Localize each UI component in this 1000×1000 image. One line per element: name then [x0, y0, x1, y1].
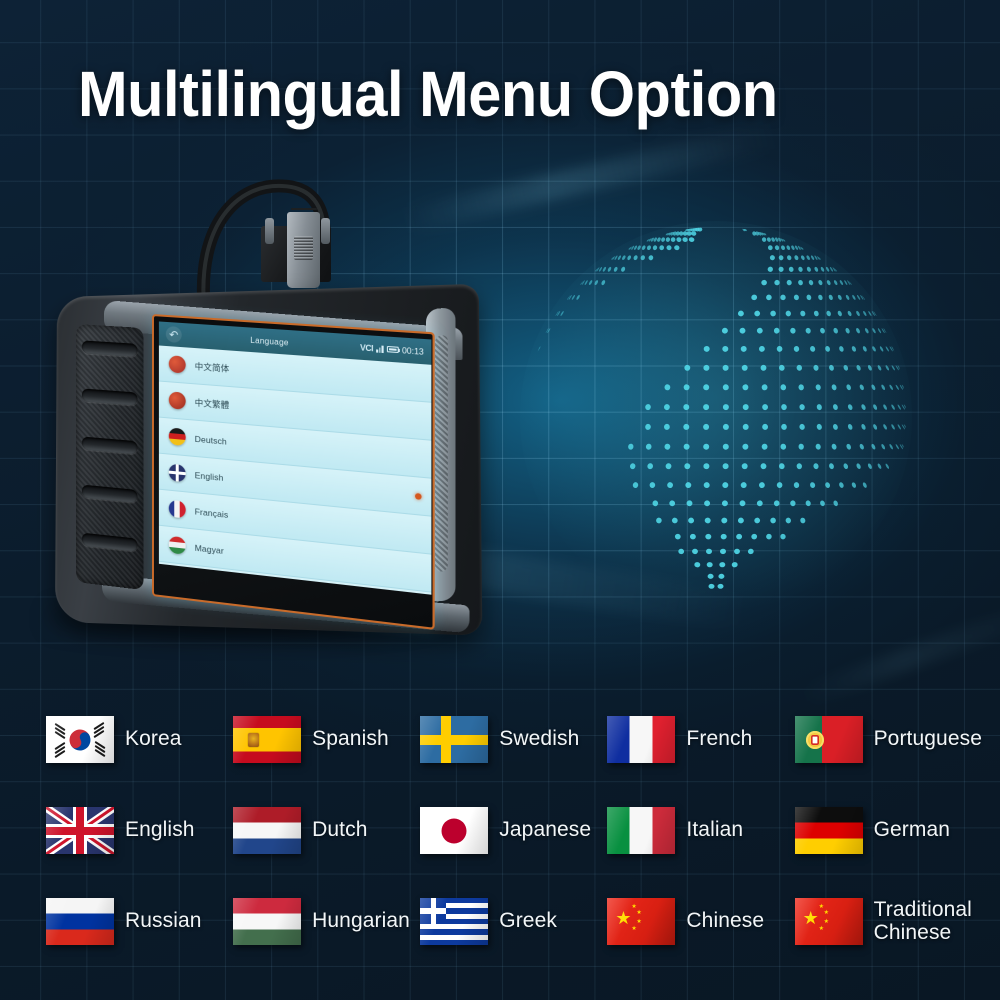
- star-icon: ★: [615, 909, 631, 927]
- language-list-item-label: 中文简体: [195, 360, 230, 375]
- dotted-globe-graphic: [520, 205, 920, 625]
- connector-mesh: [294, 236, 313, 260]
- flag-grid-item-label: English: [125, 819, 195, 842]
- connector-pin: [321, 218, 330, 244]
- page-title: Multilingual Menu Option: [78, 62, 778, 126]
- flag-uk-icon: [46, 807, 114, 854]
- flag-grid-item-label: Dutch: [312, 819, 367, 842]
- status-icons: VCI 00:13: [360, 343, 424, 357]
- flag-grid-item: English: [46, 807, 233, 854]
- flag-grid-item-label: German: [874, 819, 950, 842]
- device-left-grip: [76, 324, 144, 590]
- screen-content[interactable]: Foxwell ↶ Language VCI 00:13 中文简体中文繁體Deu…: [159, 321, 432, 594]
- language-list[interactable]: 中文简体中文繁體DeutschEnglishFrançaisMagyarالعر…: [159, 345, 432, 594]
- selected-indicator-icon: [415, 492, 422, 499]
- flag-france-icon: [607, 716, 675, 763]
- flag-grid-item: Korea: [46, 716, 233, 763]
- device-screen[interactable]: Foxwell ↶ Language VCI 00:13 中文简体中文繁體Deu…: [152, 314, 435, 630]
- flag-grid-item-label: Portuguese: [874, 728, 982, 751]
- flag-china-icon: ★★★★★: [795, 898, 863, 945]
- language-list-item-label: Magyar: [195, 542, 224, 555]
- flag-grid-item: Swedish: [420, 716, 607, 763]
- flag-italy-icon: [607, 807, 675, 854]
- star-icon: ★: [803, 909, 819, 927]
- flag-grid-item: Russian: [46, 898, 233, 945]
- connector-pin: [265, 218, 274, 244]
- light-beam: [402, 123, 778, 234]
- signal-bars-icon: [376, 344, 383, 353]
- language-list-item-label: العربية: [195, 578, 218, 592]
- language-flag-icon: [169, 572, 186, 591]
- flag-netherlands-icon: [233, 807, 301, 854]
- back-arrow-icon[interactable]: ↶: [166, 326, 182, 343]
- flag-grid-item-label: Traditional Chinese: [874, 899, 972, 944]
- flag-grid-item: ★★★★★Traditional Chinese: [795, 898, 982, 945]
- flag-grid-item-label: Greek: [499, 910, 557, 933]
- diagnostic-scanner-device: Foxwell ↶ Language VCI 00:13 中文简体中文繁體Deu…: [56, 288, 460, 636]
- language-flag-icon: [169, 536, 186, 555]
- battery-icon: [387, 346, 399, 353]
- flag-grid-item-label: Spanish: [312, 728, 389, 751]
- light-beam: [795, 593, 1000, 709]
- flag-grid-item: Italian: [607, 807, 794, 854]
- vci-badge: VCI: [360, 343, 373, 353]
- flag-grid-item: Spanish: [233, 716, 420, 763]
- language-flag-icon: [169, 427, 186, 446]
- obd-connector: [261, 216, 333, 288]
- flag-grid-item-label: Swedish: [499, 728, 579, 751]
- language-list-item-label: 中文繁體: [195, 396, 230, 411]
- language-flag-icon: [169, 355, 186, 373]
- flag-grid-item: French: [607, 716, 794, 763]
- language-flag-icon: [169, 500, 186, 519]
- flag-grid-item: Japanese: [420, 807, 607, 854]
- language-flag-grid: KoreaSpanishSwedishFrenchPortugueseEngli…: [46, 694, 982, 967]
- language-flag-icon: [169, 391, 186, 409]
- flag-grid-item-label: Japanese: [499, 819, 591, 842]
- flag-korea-icon: [46, 716, 114, 763]
- flag-greece-icon: [420, 898, 488, 945]
- language-list-item-label: English: [195, 470, 224, 483]
- flag-grid-item-label: French: [686, 728, 752, 751]
- flag-japan-icon: [420, 807, 488, 854]
- flag-china-icon: ★★★★★: [607, 898, 675, 945]
- device-right-mesh: [435, 335, 448, 572]
- language-flag-icon: [169, 464, 186, 483]
- flag-russia-icon: [46, 898, 114, 945]
- flag-sweden-icon: [420, 716, 488, 763]
- language-list-item-label: Deutsch: [195, 433, 227, 446]
- flag-grid-item-label: Hungarian: [312, 910, 410, 933]
- flag-grid-item-label: Russian: [125, 910, 202, 933]
- flag-grid-item-label: Chinese: [686, 910, 764, 933]
- flag-grid-item-label: Korea: [125, 728, 182, 751]
- flag-grid-item-label: Italian: [686, 819, 743, 842]
- language-list-item-label: Français: [195, 506, 229, 520]
- promo-banner: Multilingual Menu Option: [0, 0, 1000, 1000]
- flag-grid-item: Greek: [420, 898, 607, 945]
- flag-grid-item: Hungarian: [233, 898, 420, 945]
- status-clock: 00:13: [402, 345, 424, 356]
- flag-grid-item: Dutch: [233, 807, 420, 854]
- flag-portugal-icon: [795, 716, 863, 763]
- flag-grid-item: ★★★★★Chinese: [607, 898, 794, 945]
- flag-spain-icon: [233, 716, 301, 763]
- flag-grid-item: German: [795, 807, 982, 854]
- flag-germany-icon: [795, 807, 863, 854]
- flag-hungary-icon: [233, 898, 301, 945]
- flag-grid-item: Portuguese: [795, 716, 982, 763]
